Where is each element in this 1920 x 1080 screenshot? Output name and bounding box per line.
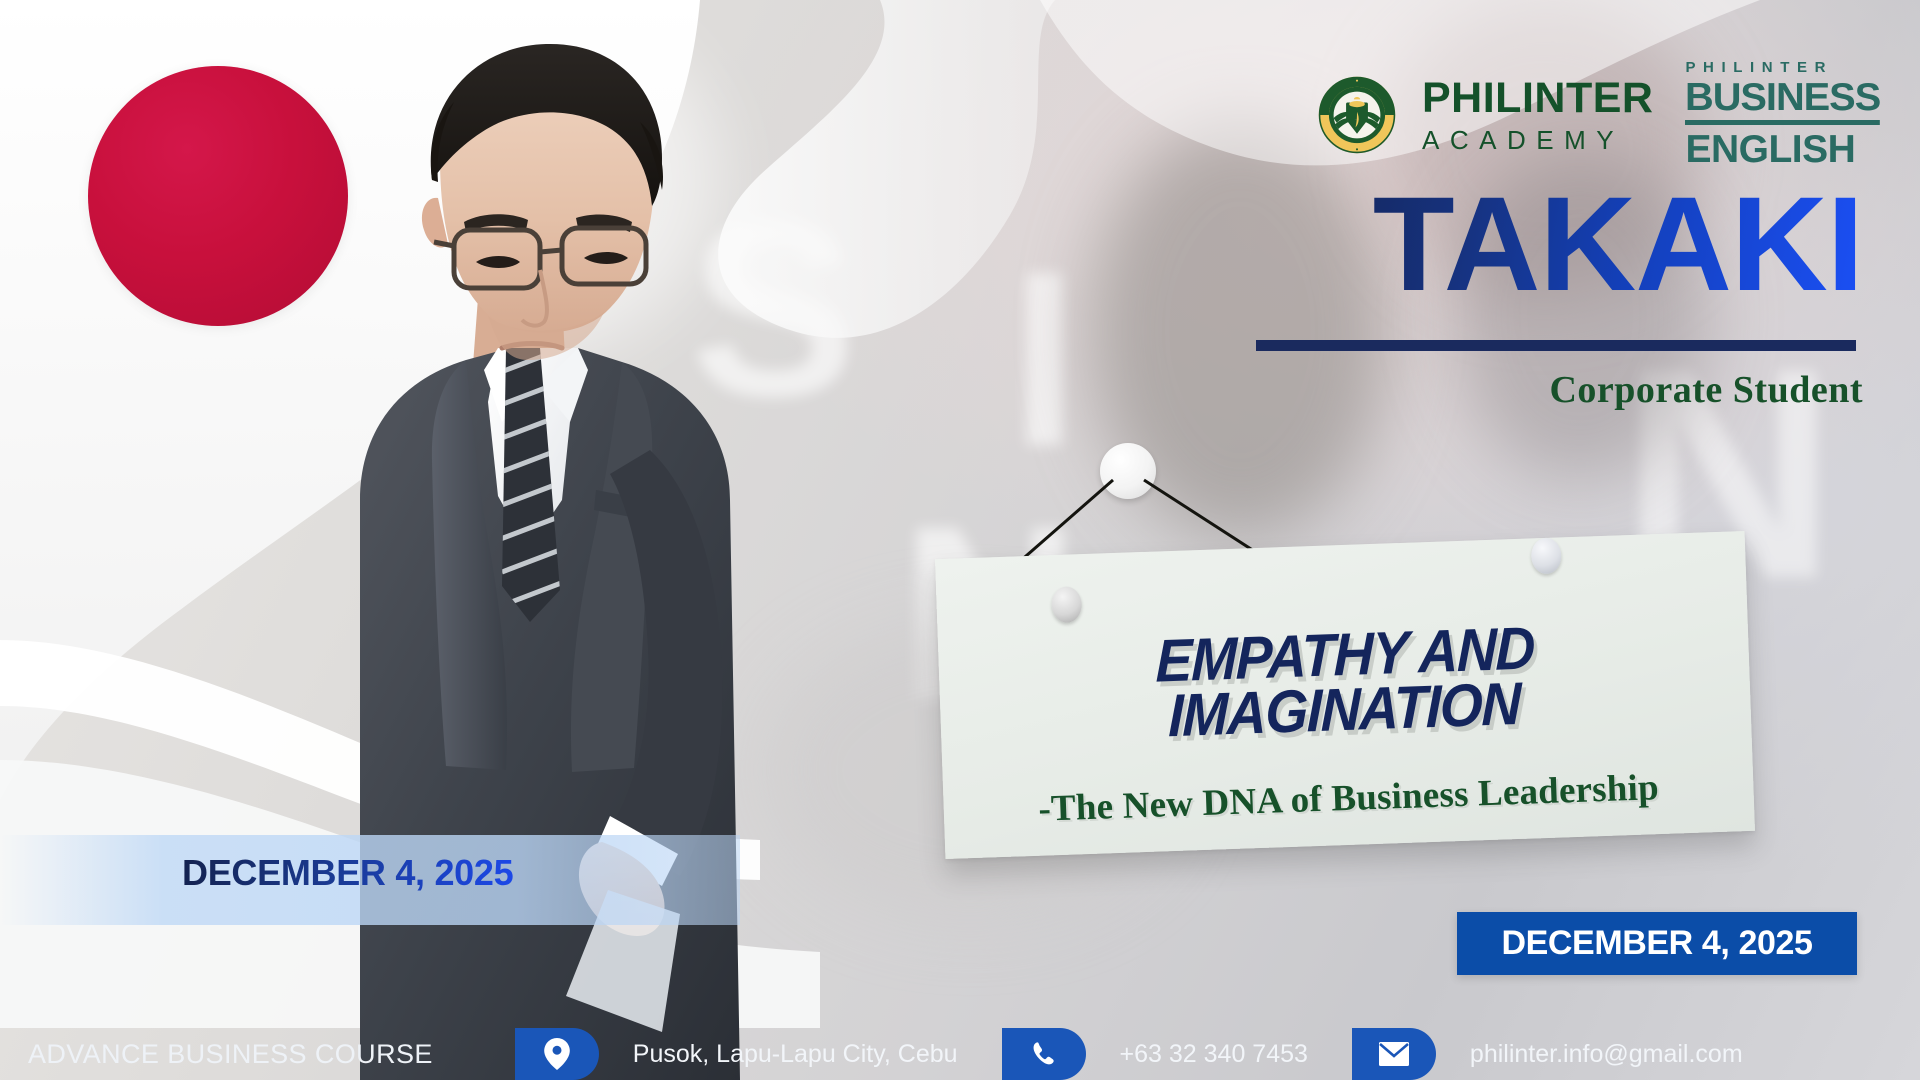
footer-course-title: ADVANCE BUSINESS COURSE — [28, 1039, 433, 1070]
philinter-academy-seal-icon — [1318, 76, 1396, 154]
speaker-name: TAKAKI — [1255, 178, 1863, 312]
footer-location-item[interactable]: Pusok, Lapu-Lapu City, Cebu — [515, 1028, 968, 1080]
academy-subtitle: ACADEMY — [1422, 127, 1653, 153]
poster-canvas: S I N N — [0, 0, 1920, 1080]
footer-email-text: philinter.info@gmail.com — [1470, 1040, 1743, 1069]
hanging-sign: EMPATHY AND IMAGINATION -The New DNA of … — [935, 531, 1755, 859]
speaker-role: Corporate Student — [1255, 368, 1863, 412]
footer-email-item[interactable]: philinter.info@gmail.com — [1352, 1028, 1753, 1080]
academy-name: PHILINTER — [1422, 77, 1653, 120]
be-word-english: ENGLISH — [1685, 130, 1876, 169]
sign-hook-icon — [1100, 443, 1156, 499]
overlay-date-text: DECEMBER 4, 2025 — [182, 852, 513, 894]
envelope-icon — [1352, 1028, 1436, 1080]
be-brand-prefix: PHILINTER — [1685, 60, 1876, 75]
name-underline-rule — [1256, 340, 1856, 351]
logo-row: PHILINTER ACADEMY PHILINTER BUSINESS ENG… — [1318, 60, 1877, 169]
date-badge: DECEMBER 4, 2025 — [1457, 912, 1857, 975]
business-english-logo: PHILINTER BUSINESS ENGLISH — [1685, 60, 1876, 169]
footer-phone-text: +63 32 340 7453 — [1120, 1040, 1308, 1069]
date-badge-text: DECEMBER 4, 2025 — [1501, 924, 1812, 963]
philinter-academy-wordmark: PHILINTER ACADEMY — [1422, 77, 1653, 153]
footer-phone-item[interactable]: +63 32 340 7453 — [1002, 1028, 1318, 1080]
be-word-business: BUSINESS — [1685, 78, 1880, 125]
footer-bar: ADVANCE BUSINESS COURSE Pusok, Lapu-Lapu… — [0, 1028, 1920, 1080]
phone-icon — [1002, 1028, 1086, 1080]
map-pin-icon — [515, 1028, 599, 1080]
footer-location-text: Pusok, Lapu-Lapu City, Cebu — [633, 1040, 958, 1069]
